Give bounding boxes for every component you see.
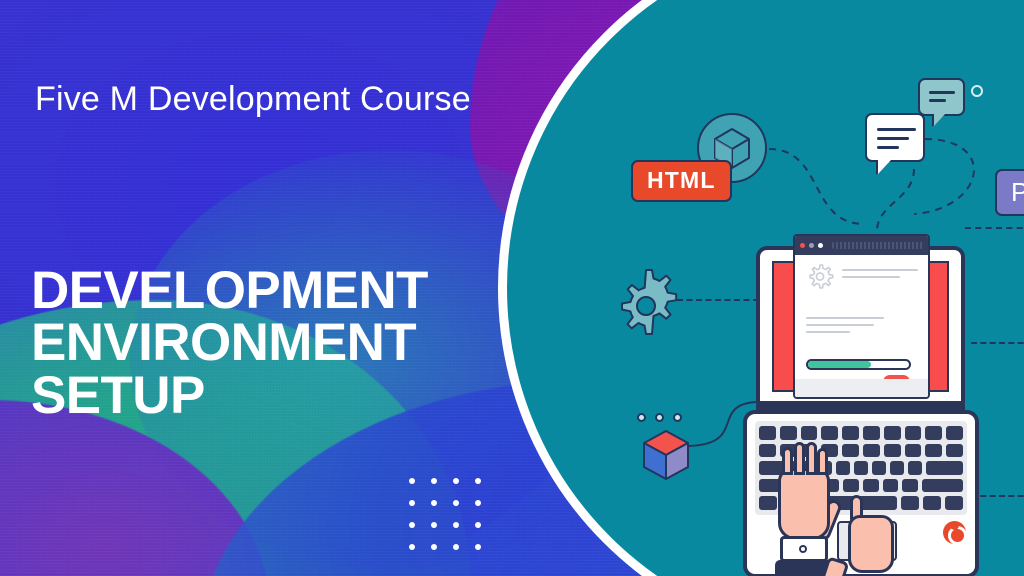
traffic-light-maximize-icon[interactable]	[818, 243, 823, 248]
badge-html[interactable]: HTML	[631, 160, 732, 202]
title-line-2: ENVIRONMENT	[31, 317, 531, 369]
browser-content	[795, 255, 928, 399]
browser-window[interactable]	[793, 234, 930, 399]
course-subtitle: Five M Development Course	[35, 77, 505, 123]
traffic-light-minimize-icon[interactable]	[809, 243, 814, 248]
banner-canvas: Five M Development Course DEVELOPMENT EN…	[0, 0, 1024, 576]
address-bar[interactable]	[832, 242, 923, 249]
status-dots	[637, 413, 682, 422]
connector-dash-right-mid	[971, 342, 1024, 344]
decorative-dot-grid	[409, 478, 497, 566]
cube-3d-icon	[638, 427, 694, 488]
chat-bubble-icon-secondary	[918, 78, 965, 116]
ubuntu-logo-icon	[943, 521, 966, 544]
badge-php[interactable]: PHP	[995, 169, 1024, 216]
title-line-1: DEVELOPMENT	[31, 265, 531, 317]
left-hand-palm	[778, 468, 830, 540]
gear-glyph	[610, 266, 682, 338]
traffic-light-close-icon[interactable]	[800, 243, 805, 248]
title-line-3: SETUP	[31, 370, 531, 422]
illustration-inner: HTML PHP	[498, 9, 1024, 576]
progress-bar	[806, 359, 911, 370]
cuff-button-icon	[799, 545, 807, 553]
circle-dot-icon	[971, 85, 983, 97]
page-title: DEVELOPMENT ENVIRONMENT SETUP	[31, 265, 531, 422]
content-heading-lines	[842, 269, 918, 283]
browser-footer	[795, 379, 928, 399]
illustration-circle-panel: HTML PHP	[498, 0, 1024, 576]
content-paragraph-lines	[806, 317, 884, 338]
progress-bar-fill	[808, 361, 871, 368]
browser-titlebar	[795, 236, 928, 255]
chat-bubble-icon-primary	[865, 113, 925, 162]
connector-dash-right-top	[965, 227, 1024, 229]
settings-gear-icon	[805, 263, 835, 293]
cube-3d-glyph	[638, 427, 694, 483]
connector-dash-gear	[677, 299, 759, 301]
gear-icon	[610, 266, 682, 343]
right-hand-palm	[848, 515, 894, 573]
